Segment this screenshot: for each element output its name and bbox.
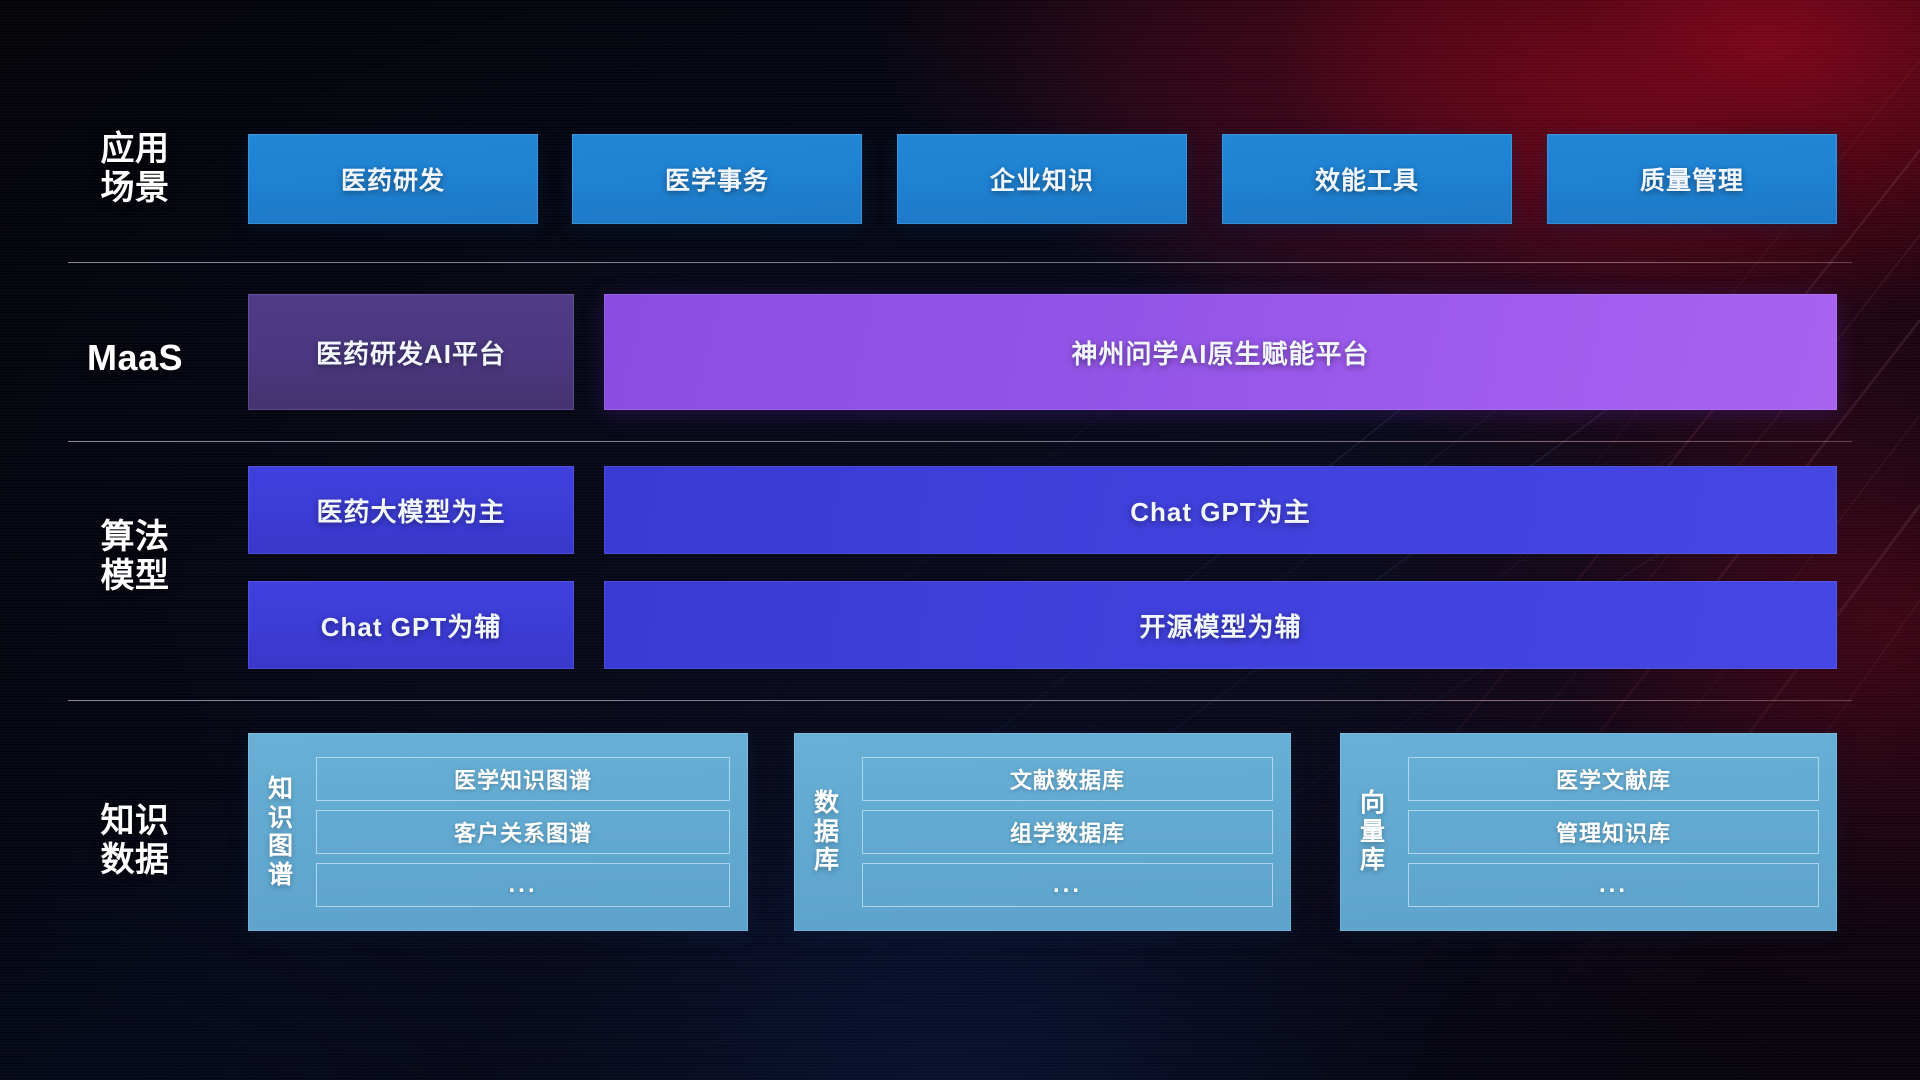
layer-label-application: 应用场景 xyxy=(60,130,210,209)
algorithm-card-row2-right[interactable]: 开源模型为辅 xyxy=(604,581,1837,669)
knowledge-item-db-3[interactable]: ... xyxy=(862,863,1273,907)
knowledge-group-knowledge-graph-items: 医学知识图谱 客户关系图谱 ... xyxy=(314,757,748,907)
knowledge-group-database-label: 数据库 xyxy=(794,789,860,875)
knowledge-item-vec-3[interactable]: ... xyxy=(1408,863,1819,907)
knowledge-item-vec-2[interactable]: 管理知识库 xyxy=(1408,810,1819,854)
algorithm-card-row2-left[interactable]: Chat GPT为辅 xyxy=(248,581,574,669)
algorithm-card-row1-right[interactable]: Chat GPT为主 xyxy=(604,466,1837,554)
app-card-4[interactable]: 效能工具 xyxy=(1222,134,1512,224)
app-card-5[interactable]: 质量管理 xyxy=(1547,134,1837,224)
algorithm-card-row1-left[interactable]: 医药大模型为主 xyxy=(248,466,574,554)
maas-card-pharma-ai-platform[interactable]: 医药研发AI平台 xyxy=(248,294,574,410)
knowledge-item-kg-1[interactable]: 医学知识图谱 xyxy=(316,757,730,801)
maas-card-shenzhou-platform[interactable]: 神州问学AI原生赋能平台 xyxy=(604,294,1837,410)
maas-card-shenzhou-platform-label: 神州问学AI原生赋能平台 xyxy=(1071,334,1369,371)
divider-maas-algorithm xyxy=(68,441,1852,442)
knowledge-group-database[interactable]: 数据库 文献数据库 组学数据库 ... xyxy=(794,733,1291,931)
app-card-5-label: 质量管理 xyxy=(1640,161,1744,197)
divider-algorithm-knowledge xyxy=(68,700,1852,701)
app-card-2[interactable]: 医学事务 xyxy=(572,134,862,224)
algorithm-card-row1-left-label: 医药大模型为主 xyxy=(316,492,505,529)
layer-label-maas: MaaS xyxy=(60,337,210,379)
app-card-1-label: 医药研发 xyxy=(341,161,445,197)
knowledge-item-db-2[interactable]: 组学数据库 xyxy=(862,810,1273,854)
algorithm-card-row2-left-label: Chat GPT为辅 xyxy=(321,607,501,644)
knowledge-item-vec-1[interactable]: 医学文献库 xyxy=(1408,757,1819,801)
app-card-2-label: 医学事务 xyxy=(665,161,769,197)
algorithm-card-row1-right-label: Chat GPT为主 xyxy=(1130,492,1310,529)
knowledge-group-database-items: 文献数据库 组学数据库 ... xyxy=(860,757,1291,907)
app-card-3-label: 企业知识 xyxy=(990,161,1094,197)
knowledge-group-vector-store-items: 医学文献库 管理知识库 ... xyxy=(1406,757,1837,907)
algorithm-card-row2-right-label: 开源模型为辅 xyxy=(1139,607,1301,644)
knowledge-group-vector-store-label: 向量库 xyxy=(1340,789,1406,875)
knowledge-group-vector-store[interactable]: 向量库 医学文献库 管理知识库 ... xyxy=(1340,733,1837,931)
knowledge-group-knowledge-graph-label: 知识图谱 xyxy=(248,775,314,889)
layer-label-algorithm: 算法模型 xyxy=(60,518,210,597)
knowledge-group-knowledge-graph[interactable]: 知识图谱 医学知识图谱 客户关系图谱 ... xyxy=(248,733,748,931)
divider-application-maas xyxy=(68,262,1852,263)
app-card-1[interactable]: 医药研发 xyxy=(248,134,538,224)
knowledge-item-db-1[interactable]: 文献数据库 xyxy=(862,757,1273,801)
app-card-3[interactable]: 企业知识 xyxy=(897,134,1187,224)
maas-card-pharma-ai-platform-label: 医药研发AI平台 xyxy=(316,334,506,371)
app-card-4-label: 效能工具 xyxy=(1315,161,1419,197)
knowledge-item-kg-2[interactable]: 客户关系图谱 xyxy=(316,810,730,854)
layer-label-knowledge: 知识数据 xyxy=(60,802,210,881)
knowledge-item-kg-3[interactable]: ... xyxy=(316,863,730,907)
